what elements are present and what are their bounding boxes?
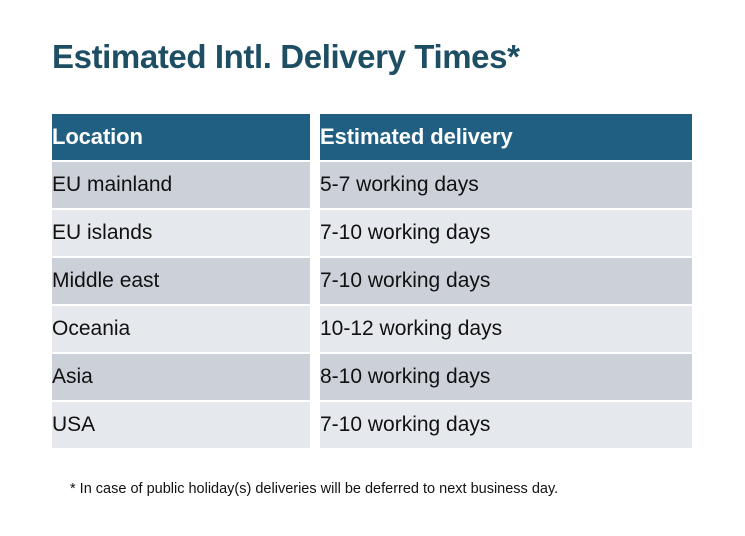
table-header-row: Location Estimated delivery (52, 114, 692, 160)
column-separator (310, 306, 320, 352)
column-separator (310, 258, 320, 304)
table-row: Middle east 7-10 working days (52, 258, 692, 304)
cell-estimated-delivery: 7-10 working days (320, 210, 692, 256)
footnote-text: * In case of public holiday(s) deliverie… (70, 480, 558, 498)
cell-estimated-delivery: 10-12 working days (320, 306, 692, 352)
cell-location: Oceania (52, 306, 310, 352)
cell-location: EU islands (52, 210, 310, 256)
cell-location: USA (52, 402, 310, 448)
column-header-location: Location (52, 114, 310, 160)
cell-estimated-delivery: 5-7 working days (320, 162, 692, 208)
column-separator (310, 114, 320, 160)
table-row: Asia 8-10 working days (52, 354, 692, 400)
table-header: Location Estimated delivery (52, 114, 692, 160)
column-separator (310, 162, 320, 208)
cell-location: EU mainland (52, 162, 310, 208)
delivery-times-page: Estimated Intl. Delivery Times* Location… (0, 0, 745, 536)
cell-location: Middle east (52, 258, 310, 304)
cell-estimated-delivery: 7-10 working days (320, 258, 692, 304)
cell-estimated-delivery: 8-10 working days (320, 354, 692, 400)
column-header-estimated-delivery: Estimated delivery (320, 114, 692, 160)
table-row: Oceania 10-12 working days (52, 306, 692, 352)
table-body: EU mainland 5-7 working days EU islands … (52, 160, 692, 448)
cell-estimated-delivery: 7-10 working days (320, 402, 692, 448)
estimated-delivery-table: Location Estimated delivery EU mainland … (52, 114, 692, 448)
table-row: EU islands 7-10 working days (52, 210, 692, 256)
column-separator (310, 354, 320, 400)
table-row: EU mainland 5-7 working days (52, 162, 692, 208)
cell-location: Asia (52, 354, 310, 400)
page-title: Estimated Intl. Delivery Times* (52, 36, 520, 78)
table-row: USA 7-10 working days (52, 402, 692, 448)
column-separator (310, 402, 320, 448)
column-separator (310, 210, 320, 256)
